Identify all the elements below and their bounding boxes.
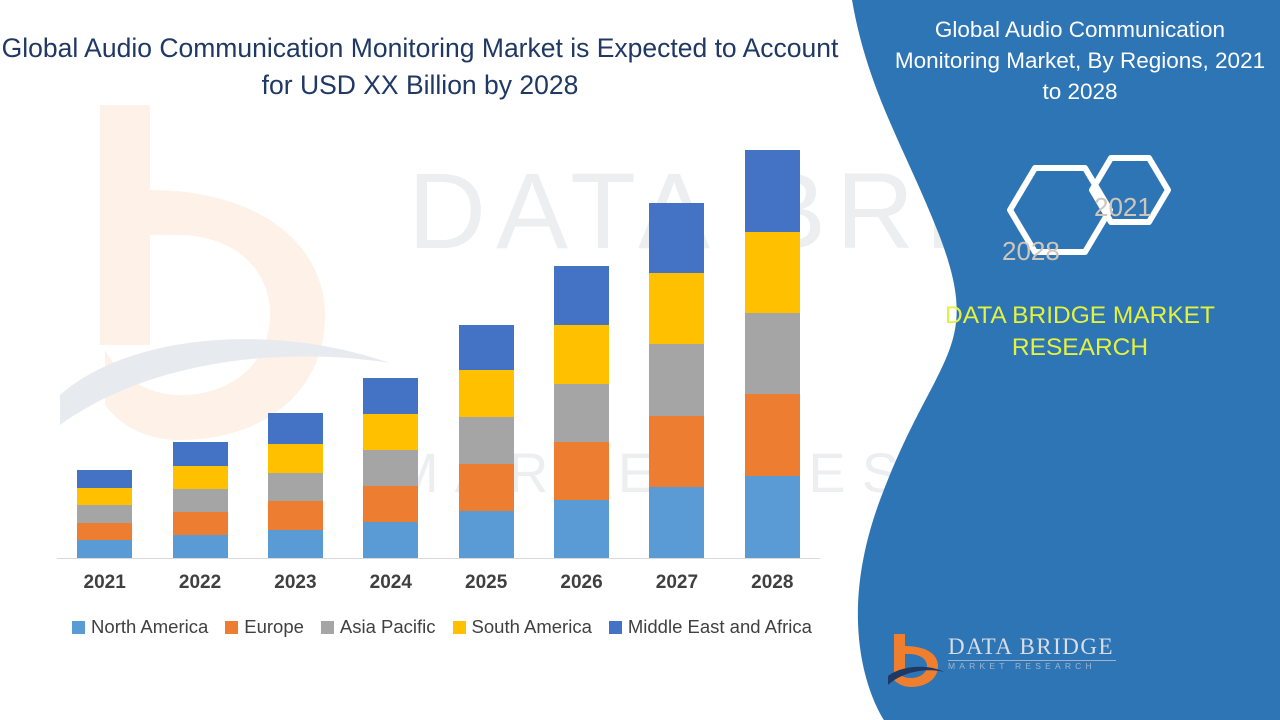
bar-segment xyxy=(363,450,418,486)
bar-segment xyxy=(649,203,704,273)
bar-segment xyxy=(554,325,609,384)
bar-column xyxy=(343,120,438,558)
legend-swatch-icon xyxy=(321,621,334,634)
bar-segment xyxy=(649,416,704,487)
legend-label: South America xyxy=(472,616,592,638)
bar-segment xyxy=(363,522,418,558)
stacked-bar xyxy=(745,150,800,558)
bar-segment xyxy=(77,488,132,506)
company-logo: DATA BRIDGE MARKET RESEARCH xyxy=(888,630,1118,700)
bar-segment xyxy=(363,378,418,413)
x-axis-label: 2027 xyxy=(629,572,724,594)
x-axis-label: 2021 xyxy=(57,572,152,594)
chart-plot-area: 20212022202320242025202620272028 North A… xyxy=(0,0,860,720)
legend-label: Asia Pacific xyxy=(340,616,436,638)
bar-segment xyxy=(268,530,323,558)
x-axis-label: 2024 xyxy=(343,572,438,594)
bar-segment xyxy=(745,313,800,394)
panel-title: Global Audio Communication Monitoring Ma… xyxy=(890,14,1270,107)
bar-segment xyxy=(268,501,323,529)
bar-group xyxy=(57,120,820,558)
bar-segment xyxy=(459,370,514,417)
stacked-bar xyxy=(554,266,609,558)
x-axis-label: 2022 xyxy=(153,572,248,594)
bar-segment xyxy=(77,505,132,523)
chart-legend: North AmericaEuropeAsia PacificSouth Ame… xyxy=(57,616,827,638)
brand-line-1: DATA BRIDGE MARKET xyxy=(880,300,1280,332)
bar-column xyxy=(153,120,248,558)
hexagon-group: 2028 2021 xyxy=(980,140,1200,280)
bar-column xyxy=(57,120,152,558)
x-axis-label: 2025 xyxy=(439,572,534,594)
bar-segment xyxy=(554,384,609,442)
bar-column xyxy=(534,120,629,558)
legend-item[interactable]: Middle East and Africa xyxy=(609,616,812,638)
legend-label: Middle East and Africa xyxy=(628,616,812,638)
bar-segment xyxy=(649,344,704,415)
bar-segment xyxy=(173,489,228,512)
right-panel-content: Global Audio Communication Monitoring Ma… xyxy=(880,0,1280,720)
stacked-bar xyxy=(173,442,228,558)
legend-label: Europe xyxy=(244,616,304,638)
legend-item[interactable]: South America xyxy=(453,616,592,638)
x-axis-label: 2026 xyxy=(534,572,629,594)
stacked-bar xyxy=(363,378,418,558)
bar-segment xyxy=(649,487,704,558)
bar-column xyxy=(629,120,724,558)
legend-swatch-icon xyxy=(609,621,622,634)
bar-segment xyxy=(77,540,132,558)
data-bridge-b-mark-icon xyxy=(888,632,944,694)
bar-segment xyxy=(173,535,228,558)
bar-column xyxy=(248,120,343,558)
bar-segment xyxy=(268,413,323,444)
x-axis-line xyxy=(57,558,820,559)
legend-item[interactable]: North America xyxy=(72,616,208,638)
bar-segment xyxy=(173,512,228,535)
legend-item[interactable]: Europe xyxy=(225,616,304,638)
brand-name: DATA BRIDGE MARKET RESEARCH xyxy=(880,300,1280,364)
bar-segment xyxy=(459,417,514,464)
bar-segment xyxy=(77,523,132,541)
bar-segment xyxy=(554,266,609,325)
bar-segment xyxy=(745,394,800,476)
bar-segment xyxy=(554,500,609,558)
hexagon-label-start-year: 2021 xyxy=(1094,192,1152,223)
legend-item[interactable]: Asia Pacific xyxy=(321,616,436,638)
bar-segment xyxy=(268,473,323,501)
bar-segment xyxy=(649,273,704,344)
bar-segment xyxy=(363,414,418,450)
x-axis-label: 2028 xyxy=(725,572,820,594)
bar-segment xyxy=(554,442,609,500)
bar-segment xyxy=(363,486,418,522)
bar-segment xyxy=(77,470,132,488)
legend-label: North America xyxy=(91,616,208,638)
bar-segment xyxy=(745,150,800,232)
bar-segment xyxy=(173,442,228,466)
logo-divider xyxy=(948,660,1116,661)
stacked-bar xyxy=(77,470,132,558)
bar-column xyxy=(439,120,534,558)
bar-segment xyxy=(268,444,323,472)
logo-sub-text: MARKET RESEARCH xyxy=(948,661,1118,671)
legend-swatch-icon xyxy=(453,621,466,634)
stacked-bar xyxy=(268,413,323,558)
legend-swatch-icon xyxy=(225,621,238,634)
legend-swatch-icon xyxy=(72,621,85,634)
bar-segment xyxy=(459,325,514,370)
bar-segment xyxy=(745,232,800,313)
bar-segment xyxy=(459,511,514,558)
bar-segment xyxy=(745,476,800,558)
stacked-bar xyxy=(649,203,704,558)
x-axis-label: 2023 xyxy=(248,572,343,594)
brand-line-2: RESEARCH xyxy=(880,332,1280,364)
bar-segment xyxy=(459,464,514,511)
hexagon-label-end-year: 2028 xyxy=(1002,236,1060,267)
bar-column xyxy=(725,120,820,558)
logo-main-text: DATA BRIDGE xyxy=(948,634,1118,660)
bar-segment xyxy=(173,466,228,489)
logo-text-block: DATA BRIDGE MARKET RESEARCH xyxy=(948,634,1118,671)
stacked-bar xyxy=(459,325,514,558)
x-axis-labels: 20212022202320242025202620272028 xyxy=(57,572,820,594)
infographic-canvas: DATA BRIDGE MARKET RESEARCH Global Audio… xyxy=(0,0,1280,720)
